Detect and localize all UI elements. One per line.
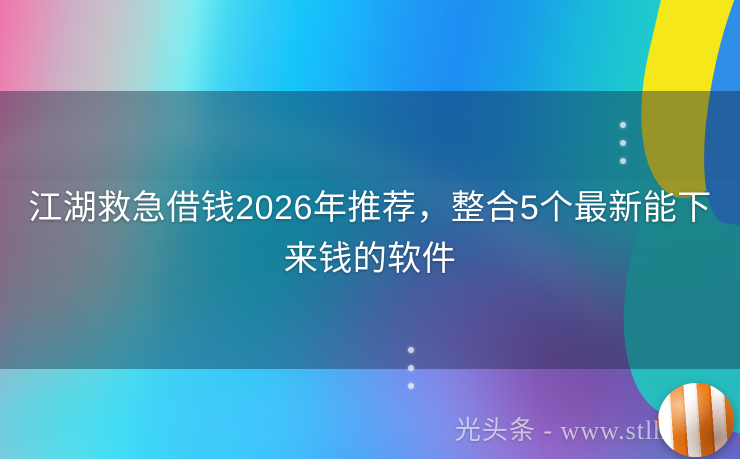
bloom-blue-center [120, 330, 500, 459]
dot-trio-upper-right [620, 122, 626, 164]
dot-trio-lower-middle [408, 347, 414, 389]
scanline-band-1 [0, 91, 740, 181]
dot-icon [408, 383, 414, 389]
dot-icon [620, 140, 626, 146]
dot-icon [620, 122, 626, 128]
dot-icon [620, 158, 626, 164]
striped-ball-decoration [651, 376, 740, 459]
yellow-swoosh-shape [617, 0, 740, 205]
page-title: 江湖救急借钱2026年推荐，整合5个最新能下来钱的软件 [0, 183, 740, 285]
dot-icon [408, 347, 414, 353]
dot-icon [408, 365, 414, 371]
bloom-cyan-left [0, 330, 320, 459]
banner-image: 江湖救急借钱2026年推荐，整合5个最新能下来钱的软件 光头条 - www.st… [0, 0, 740, 459]
